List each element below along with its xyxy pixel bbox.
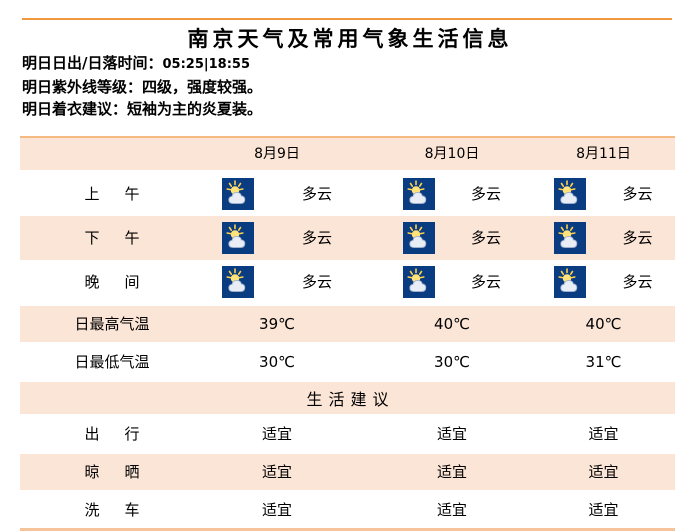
- min-temp-day3: 31℃: [532, 344, 675, 380]
- clothing-advice-label: 明日着衣建议：短袖为主的炎夏装。: [22, 100, 262, 118]
- weather-table: 8月9日 8月10日 8月11日 上 午: [20, 136, 675, 531]
- sunrise-sunset-line: 明日日出/日落时间：05:25|18:55: [22, 52, 672, 76]
- table-row: 上 午 多云: [20, 172, 675, 216]
- row-label-morning: 上 午: [42, 172, 182, 216]
- max-temp-day2: 40℃: [372, 306, 532, 342]
- partly-cloudy-icon: [403, 222, 435, 254]
- max-temp-day3: 40℃: [532, 306, 675, 342]
- partly-cloudy-icon: [554, 266, 586, 298]
- forecast-text: 多云: [622, 231, 652, 246]
- forecast-cell-afternoon-day2: 多云: [372, 216, 532, 260]
- sunrise-sunset-value: 05:25|18:55: [162, 57, 250, 72]
- sunrise-sunset-label: 明日日出/日落时间：: [22, 54, 162, 72]
- forecast-text: 多云: [471, 187, 501, 202]
- carwash-day3: 适宜: [532, 492, 675, 528]
- table-row: 下 午 多云: [20, 216, 675, 260]
- travel-day1: 适宜: [182, 416, 372, 452]
- forecast-text: 多云: [302, 187, 332, 202]
- travel-day3: 适宜: [532, 416, 675, 452]
- forecast-text: 多云: [471, 231, 501, 246]
- forecast-cell-night-day2: 多云: [372, 260, 532, 304]
- row-label-min-temp: 日最低气温: [42, 344, 182, 380]
- date-header-1: 8月9日: [182, 138, 372, 170]
- date-header-3: 8月11日: [532, 138, 675, 170]
- drying-day3: 适宜: [532, 454, 675, 490]
- table-row: 晾 晒 适宜 适宜 适宜: [20, 454, 675, 490]
- max-temp-day1: 39℃: [182, 306, 372, 342]
- partly-cloudy-icon: [554, 178, 586, 210]
- forecast-cell-morning-day3: 多云: [532, 172, 675, 216]
- forecast-text: 多云: [622, 275, 652, 290]
- uv-index-line: 明日紫外线等级：四级，强度较强。: [22, 76, 672, 98]
- partly-cloudy-icon: [222, 222, 254, 254]
- forecast-cell-afternoon-day3: 多云: [532, 216, 675, 260]
- table-row: 洗 车 适宜 适宜 适宜: [20, 492, 675, 528]
- clothing-advice-line: 明日着衣建议：短袖为主的炎夏装。: [22, 98, 672, 120]
- row-label-afternoon: 下 午: [42, 216, 182, 260]
- carwash-day1: 适宜: [182, 492, 372, 528]
- header-corner-cell: [42, 138, 182, 170]
- forecast-cell-night-day1: 多云: [182, 260, 372, 304]
- table-row: 日最高气温 39℃ 40℃ 40℃: [20, 306, 675, 342]
- table-row: 出 行 适宜 适宜 适宜: [20, 416, 675, 452]
- partly-cloudy-icon: [222, 266, 254, 298]
- partly-cloudy-icon: [222, 178, 254, 210]
- forecast-text: 多云: [302, 275, 332, 290]
- carwash-day2: 适宜: [372, 492, 532, 528]
- table-header-row: 8月9日 8月10日 8月11日: [20, 138, 675, 170]
- travel-day2: 适宜: [372, 416, 532, 452]
- life-advice-title: 生活建议: [20, 382, 675, 414]
- partly-cloudy-icon: [403, 266, 435, 298]
- date-header-2: 8月10日: [372, 138, 532, 170]
- table-row: 晚 间 多云: [20, 260, 675, 304]
- min-temp-day2: 30℃: [372, 344, 532, 380]
- date-header-3-label: 8月11日: [576, 147, 631, 161]
- drying-day2: 适宜: [372, 454, 532, 490]
- page-title: 南京天气及常用气象生活信息: [0, 26, 700, 52]
- row-label-travel: 出 行: [42, 416, 182, 452]
- top-divider: [22, 18, 672, 20]
- partly-cloudy-icon: [554, 222, 586, 254]
- row-label-night: 晚 间: [42, 260, 182, 304]
- forecast-cell-morning-day2: 多云: [372, 172, 532, 216]
- date-header-1-label: 8月9日: [254, 147, 300, 161]
- forecast-text: 多云: [471, 275, 501, 290]
- forecast-text: 多云: [302, 231, 332, 246]
- forecast-text: 多云: [622, 187, 652, 202]
- date-header-2-label: 8月10日: [425, 147, 480, 161]
- info-summary-block: 明日日出/日落时间：05:25|18:55 明日紫外线等级：四级，强度较强。 明…: [22, 52, 672, 120]
- table-row: 日最低气温 30℃ 30℃ 31℃: [20, 344, 675, 380]
- row-label-carwash: 洗 车: [42, 492, 182, 528]
- forecast-cell-afternoon-day1: 多云: [182, 216, 372, 260]
- drying-day1: 适宜: [182, 454, 372, 490]
- forecast-cell-night-day3: 多云: [532, 260, 675, 304]
- forecast-cell-morning-day1: 多云: [182, 172, 372, 216]
- row-label-max-temp: 日最高气温: [42, 306, 182, 342]
- min-temp-day1: 30℃: [182, 344, 372, 380]
- partly-cloudy-icon: [403, 178, 435, 210]
- row-label-drying: 晾 晒: [42, 454, 182, 490]
- uv-index-label: 明日紫外线等级：四级，强度较强。: [22, 78, 262, 96]
- life-advice-section-header: 生活建议: [20, 382, 675, 414]
